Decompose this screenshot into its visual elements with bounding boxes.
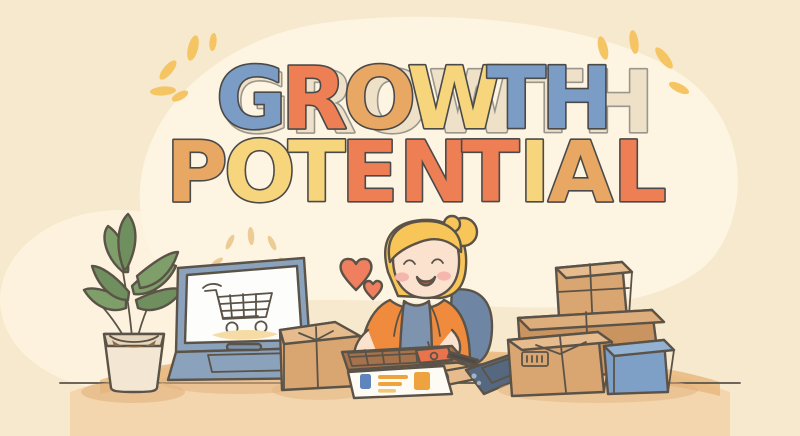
document-line xyxy=(378,382,402,386)
illustration-canvas: .ltr { font-family:"DejaVu Sans", sans-s… xyxy=(0,0,800,436)
scene-layer: .o { stroke:#5b5348; stroke-width:2.4; s… xyxy=(0,0,800,436)
document-chart-bar xyxy=(360,374,371,389)
label-stamp xyxy=(416,347,452,363)
character-cheek-left xyxy=(395,272,409,281)
document-line xyxy=(378,375,408,379)
document-block xyxy=(414,372,430,390)
heart-small-icon xyxy=(364,281,382,299)
laptop-hinge xyxy=(227,344,261,350)
heart-group xyxy=(341,259,382,299)
document-sheet xyxy=(348,366,452,398)
plant-pot-rim xyxy=(104,334,164,346)
document-line xyxy=(378,389,396,393)
phone-button[interactable] xyxy=(477,381,481,385)
plant-leaf xyxy=(118,214,135,270)
character-cheek-right xyxy=(437,271,451,280)
package-stack xyxy=(498,262,698,403)
phone-button[interactable] xyxy=(471,373,476,378)
